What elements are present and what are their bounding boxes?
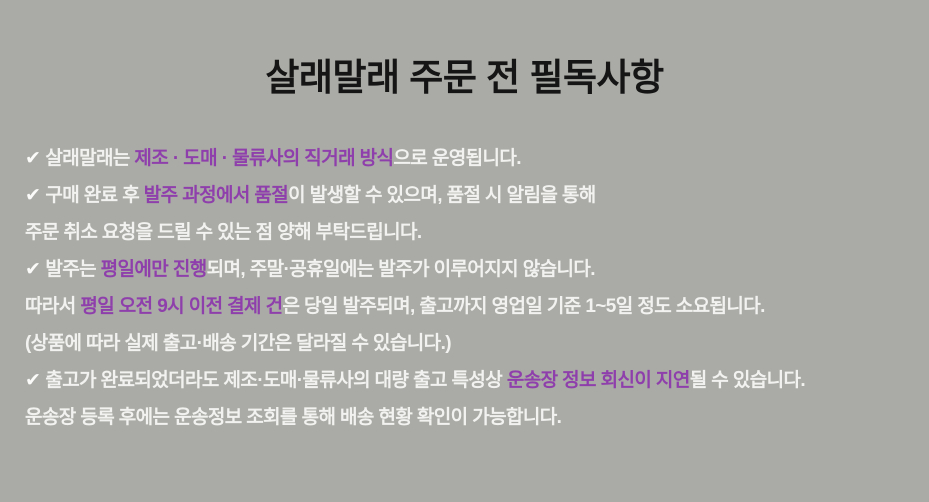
notice-line-5: 따라서 평일 오전 9시 이전 결제 건은 당일 발주되며, 출고까지 영업일 … [25, 288, 915, 325]
highlighted-text: 발주 과정에서 품절 [144, 185, 288, 206]
body-text: 출고가 완료되었더라도 제조·도매·물류사의 대량 출고 특성상 [45, 370, 507, 391]
notice-line-1: ✔살래말래는 제조 · 도매 · 물류사의 직거래 방식으로 운영됩니다. [25, 140, 915, 177]
highlighted-text: 평일에만 진행 [101, 259, 207, 280]
check-icon: ✔ [25, 362, 40, 399]
body-text: 되며, 주말·공휴일에는 발주가 이루어지지 않습니다. [207, 259, 595, 280]
highlighted-text: 제조 · 도매 · 물류사의 직거래 방식 [134, 148, 393, 169]
notice-line-8: 운송장 등록 후에는 운송정보 조회를 통해 배송 현황 확인이 가능합니다. [25, 399, 915, 436]
highlighted-text: 운송장 정보 회신이 지연 [507, 370, 690, 391]
body-text: 이 발생할 수 있으며, 품절 시 알림을 통해 [288, 185, 596, 206]
notice-board: 살래말래 주문 전 필독사항 ✔살래말래는 제조 · 도매 · 물류사의 직거래… [0, 0, 929, 502]
check-icon: ✔ [25, 140, 40, 177]
notice-line-7: ✔출고가 완료되었더라도 제조·도매·물류사의 대량 출고 특성상 운송장 정보… [25, 362, 915, 399]
body-text: 으로 운영됩니다. [393, 148, 521, 169]
check-icon: ✔ [25, 251, 40, 288]
highlighted-text: 평일 오전 9시 이전 결제 건 [80, 296, 282, 317]
body-text: (상품에 따라 실제 출고·배송 기간은 달라질 수 있습니다.) [25, 333, 451, 354]
notice-line-4: ✔발주는 평일에만 진행되며, 주말·공휴일에는 발주가 이루어지지 않습니다. [25, 251, 915, 288]
notice-line-6: (상품에 따라 실제 출고·배송 기간은 달라질 수 있습니다.) [25, 325, 915, 362]
notice-line-2: ✔구매 완료 후 발주 과정에서 품절이 발생할 수 있으며, 품절 시 알림을… [25, 177, 915, 214]
notice-body: ✔살래말래는 제조 · 도매 · 물류사의 직거래 방식으로 운영됩니다.✔구매… [25, 140, 915, 436]
body-text: 은 당일 발주되며, 출고까지 영업일 기준 1~5일 정도 소요됩니다. [283, 296, 765, 317]
page-title: 살래말래 주문 전 필독사항 [0, 54, 929, 102]
body-text: 구매 완료 후 [45, 185, 143, 206]
body-text: 살래말래는 [45, 148, 134, 169]
body-text: 발주는 [45, 259, 100, 280]
body-text: 따라서 [25, 296, 80, 317]
body-text: 운송장 등록 후에는 운송정보 조회를 통해 배송 현황 확인이 가능합니다. [25, 407, 561, 428]
check-icon: ✔ [25, 177, 40, 214]
body-text: 될 수 있습니다. [690, 370, 805, 391]
body-text: 주문 취소 요청을 드릴 수 있는 점 양해 부탁드립니다. [25, 222, 422, 243]
notice-line-3: 주문 취소 요청을 드릴 수 있는 점 양해 부탁드립니다. [25, 214, 915, 251]
